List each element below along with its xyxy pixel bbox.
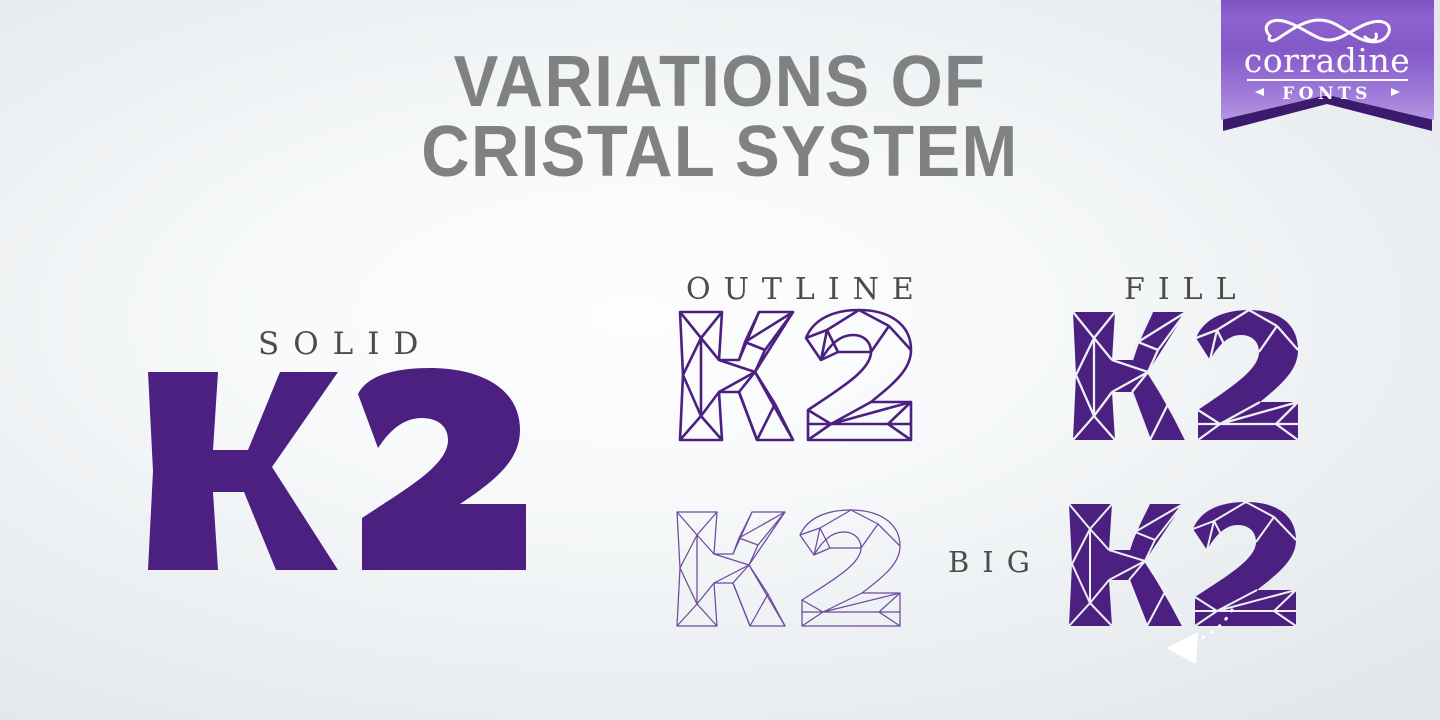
slide-canvas: VARIATIONS OF CRISTAL SYSTEM [0,0,1440,720]
curved-dotted-arrow-left-icon [1100,598,1300,688]
specimen-outline-thin-k2 [672,508,908,630]
specimen-label-fill: FILL [1124,272,1249,307]
logo-brand-text: corradine [1244,41,1411,80]
outline-thin-letter-K [677,512,785,626]
page-title: VARIATIONS OF CRISTAL SYSTEM [50,48,1389,188]
specimen-label-outline: OUTLINE [686,272,927,307]
logo-subtitle-text: FONTS [1282,84,1372,104]
specimen-solid-k2 [140,368,532,574]
outline-thin-letter-2 [800,510,900,626]
logo-divider [1247,79,1408,81]
solid-letter-2 [358,368,526,570]
fill-letter-2 [1196,310,1298,440]
outline-letter-2 [806,310,911,440]
fill-letter-K [1073,312,1186,440]
outline-letter-K [680,312,793,440]
corradine-fonts-logo: corradine FONTS [1215,0,1440,142]
specimen-label-big: BIG [948,545,1043,579]
specimen-fill-k2 [1068,308,1300,444]
solid-letter-K [148,372,338,570]
specimen-outline-k2 [675,308,915,444]
specimen-label-solid: SOLID [258,326,432,362]
